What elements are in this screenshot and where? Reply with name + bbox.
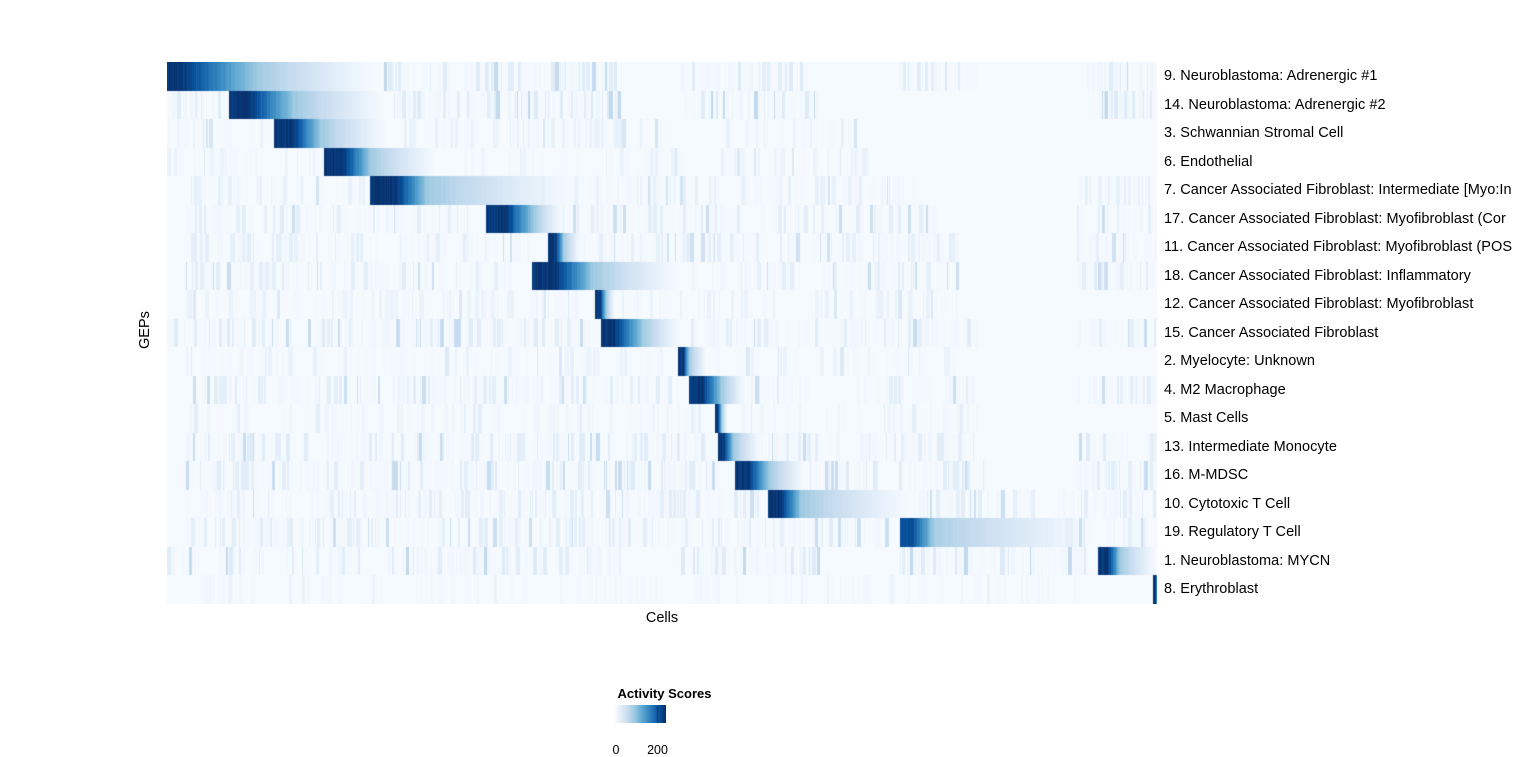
x-axis-title: Cells — [167, 610, 1157, 626]
colorbar-gradient — [615, 705, 666, 723]
heatmap-row-label: 15. Cancer Associated Fibroblast — [1164, 319, 1378, 348]
heatmap-row-label: 3. Schwannian Stromal Cell — [1164, 119, 1343, 148]
heatmap-row-label: 8. Erythroblast — [1164, 575, 1258, 604]
heatmap-row-label: 2. Myelocyte: Unknown — [1164, 347, 1315, 376]
heatmap-row-label-list: 9. Neuroblastoma: Adrenergic #114. Neuro… — [1164, 62, 1540, 604]
heatmap-row-label: 16. M-MDSC — [1164, 461, 1248, 490]
heatmap-row-label: 10. Cytotoxic T Cell — [1164, 490, 1290, 519]
heatmap-row-label: 13. Intermediate Monocyte — [1164, 433, 1337, 462]
heatmap-row-label: 19. Regulatory T Cell — [1164, 518, 1301, 547]
colorbar-tick-label: 0 — [613, 743, 620, 757]
heatmap-row-label: 6. Endothelial — [1164, 148, 1253, 177]
colorbar-tick-mark — [657, 706, 659, 722]
heatmap-row-label: 1. Neuroblastoma: MYCN — [1164, 547, 1330, 576]
heatmap-row-label: 7. Cancer Associated Fibroblast: Interme… — [1164, 176, 1512, 205]
colorbar-legend: Activity Scores 0200 — [560, 686, 820, 743]
heatmap-row-label: 4. M2 Macrophage — [1164, 376, 1286, 405]
heatmap-row-label: 17. Cancer Associated Fibroblast: Myofib… — [1164, 205, 1506, 234]
colorbar-tick-label: 200 — [647, 743, 668, 757]
heatmap-canvas[interactable] — [167, 62, 1157, 604]
heatmap-row-label: 9. Neuroblastoma: Adrenergic #1 — [1164, 62, 1378, 91]
heatmap-panel[interactable] — [167, 62, 1157, 604]
heatmap-row-label: 5. Mast Cells — [1164, 404, 1248, 433]
colorbar-bar-wrap: 0200 — [615, 705, 666, 723]
y-axis-title: GEPs — [132, 280, 158, 380]
heatmap-figure: 9. Neuroblastoma: Adrenergic #114. Neuro… — [0, 0, 1540, 743]
colorbar-title: Activity Scores — [560, 686, 769, 701]
heatmap-row-label: 14. Neuroblastoma: Adrenergic #2 — [1164, 91, 1386, 120]
heatmap-row-label: 12. Cancer Associated Fibroblast: Myofib… — [1164, 290, 1473, 319]
heatmap-row-label: 11. Cancer Associated Fibroblast: Myofib… — [1164, 233, 1512, 262]
heatmap-row-label: 18. Cancer Associated Fibroblast: Inflam… — [1164, 262, 1471, 291]
